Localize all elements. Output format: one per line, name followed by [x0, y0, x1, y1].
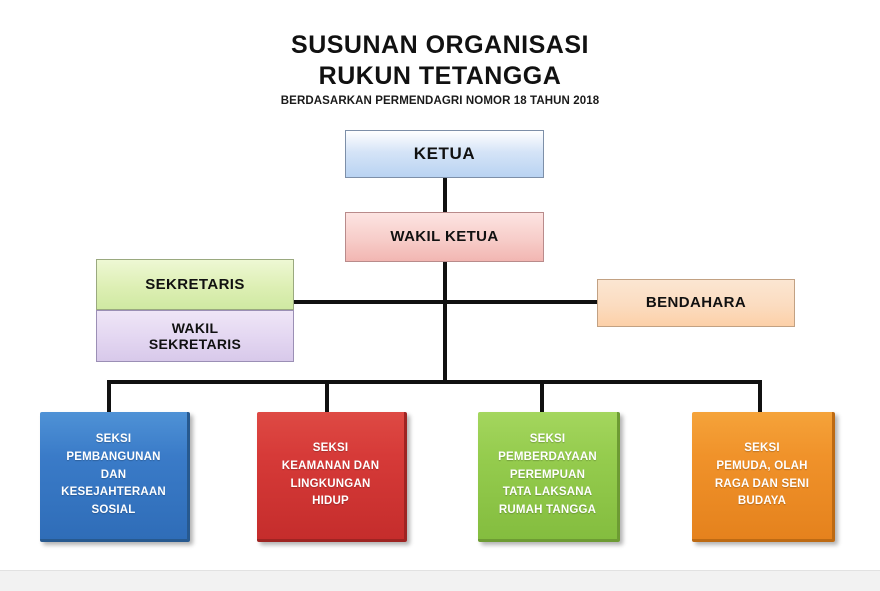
node-ketua[interactable]: KETUA: [345, 130, 544, 178]
connector-drop-seksi-4: [758, 380, 762, 413]
node-wakil-ketua-label: WAKIL KETUA: [390, 228, 498, 245]
node-wakil-sekretaris-label: WAKIL SEKRETARIS: [149, 320, 241, 352]
node-bendahara-label: BENDAHARA: [646, 294, 746, 311]
connector-drop-seksi-3: [540, 380, 544, 413]
page-title-line-2: RUKUN TETANGGA: [0, 61, 880, 92]
connector-staff-horizontal: [292, 300, 599, 304]
node-bendahara[interactable]: BENDAHARA: [597, 279, 795, 327]
node-seksi-pembangunan-kesejahteraan-sosial[interactable]: SEKSI PEMBANGUNAN DAN KESEJAHTERAAN SOSI…: [40, 412, 190, 542]
node-seksi-2-label: SEKSI KEAMANAN DAN LINGKUNGAN HIDUP: [282, 440, 380, 511]
node-seksi-4-label: SEKSI PEMUDA, OLAH RAGA DAN SENI BUDAYA: [715, 440, 809, 511]
node-wakil-sekretaris[interactable]: WAKIL SEKRETARIS: [96, 310, 294, 362]
node-seksi-pemberdayaan-perempuan[interactable]: SEKSI PEMBERDAYAAN PEREMPUAN TATA LAKSAN…: [478, 412, 620, 542]
connector-seksi-horizontal-bar: [107, 380, 762, 384]
org-chart-page: SUSUNAN ORGANISASI RUKUN TETANGGA BERDAS…: [0, 0, 880, 591]
connector-drop-seksi-2: [325, 380, 329, 413]
footer-strip: [0, 570, 880, 591]
chart-title-block: SUSUNAN ORGANISASI RUKUN TETANGGA BERDAS…: [0, 30, 880, 107]
node-seksi-1-label: SEKSI PEMBANGUNAN DAN KESEJAHTERAAN SOSI…: [61, 431, 166, 520]
node-sekretaris[interactable]: SEKRETARIS: [96, 259, 294, 310]
page-title-line-1: SUSUNAN ORGANISASI: [0, 30, 880, 61]
connector-main-trunk: [443, 262, 447, 382]
node-seksi-pemuda-olahraga-seni-budaya[interactable]: SEKSI PEMUDA, OLAH RAGA DAN SENI BUDAYA: [692, 412, 835, 542]
node-ketua-label: KETUA: [414, 144, 476, 164]
node-sekretaris-label: SEKRETARIS: [145, 276, 245, 293]
node-seksi-keamanan-lingkungan-hidup[interactable]: SEKSI KEAMANAN DAN LINGKUNGAN HIDUP: [257, 412, 407, 542]
node-seksi-3-label: SEKSI PEMBERDAYAAN PEREMPUAN TATA LAKSAN…: [498, 431, 597, 520]
page-subtitle: BERDASARKAN PERMENDAGRI NOMOR 18 TAHUN 2…: [0, 95, 880, 107]
connector-ketua-to-wakil-ketua: [443, 177, 447, 213]
node-wakil-ketua[interactable]: WAKIL KETUA: [345, 212, 544, 262]
connector-drop-seksi-1: [107, 380, 111, 413]
